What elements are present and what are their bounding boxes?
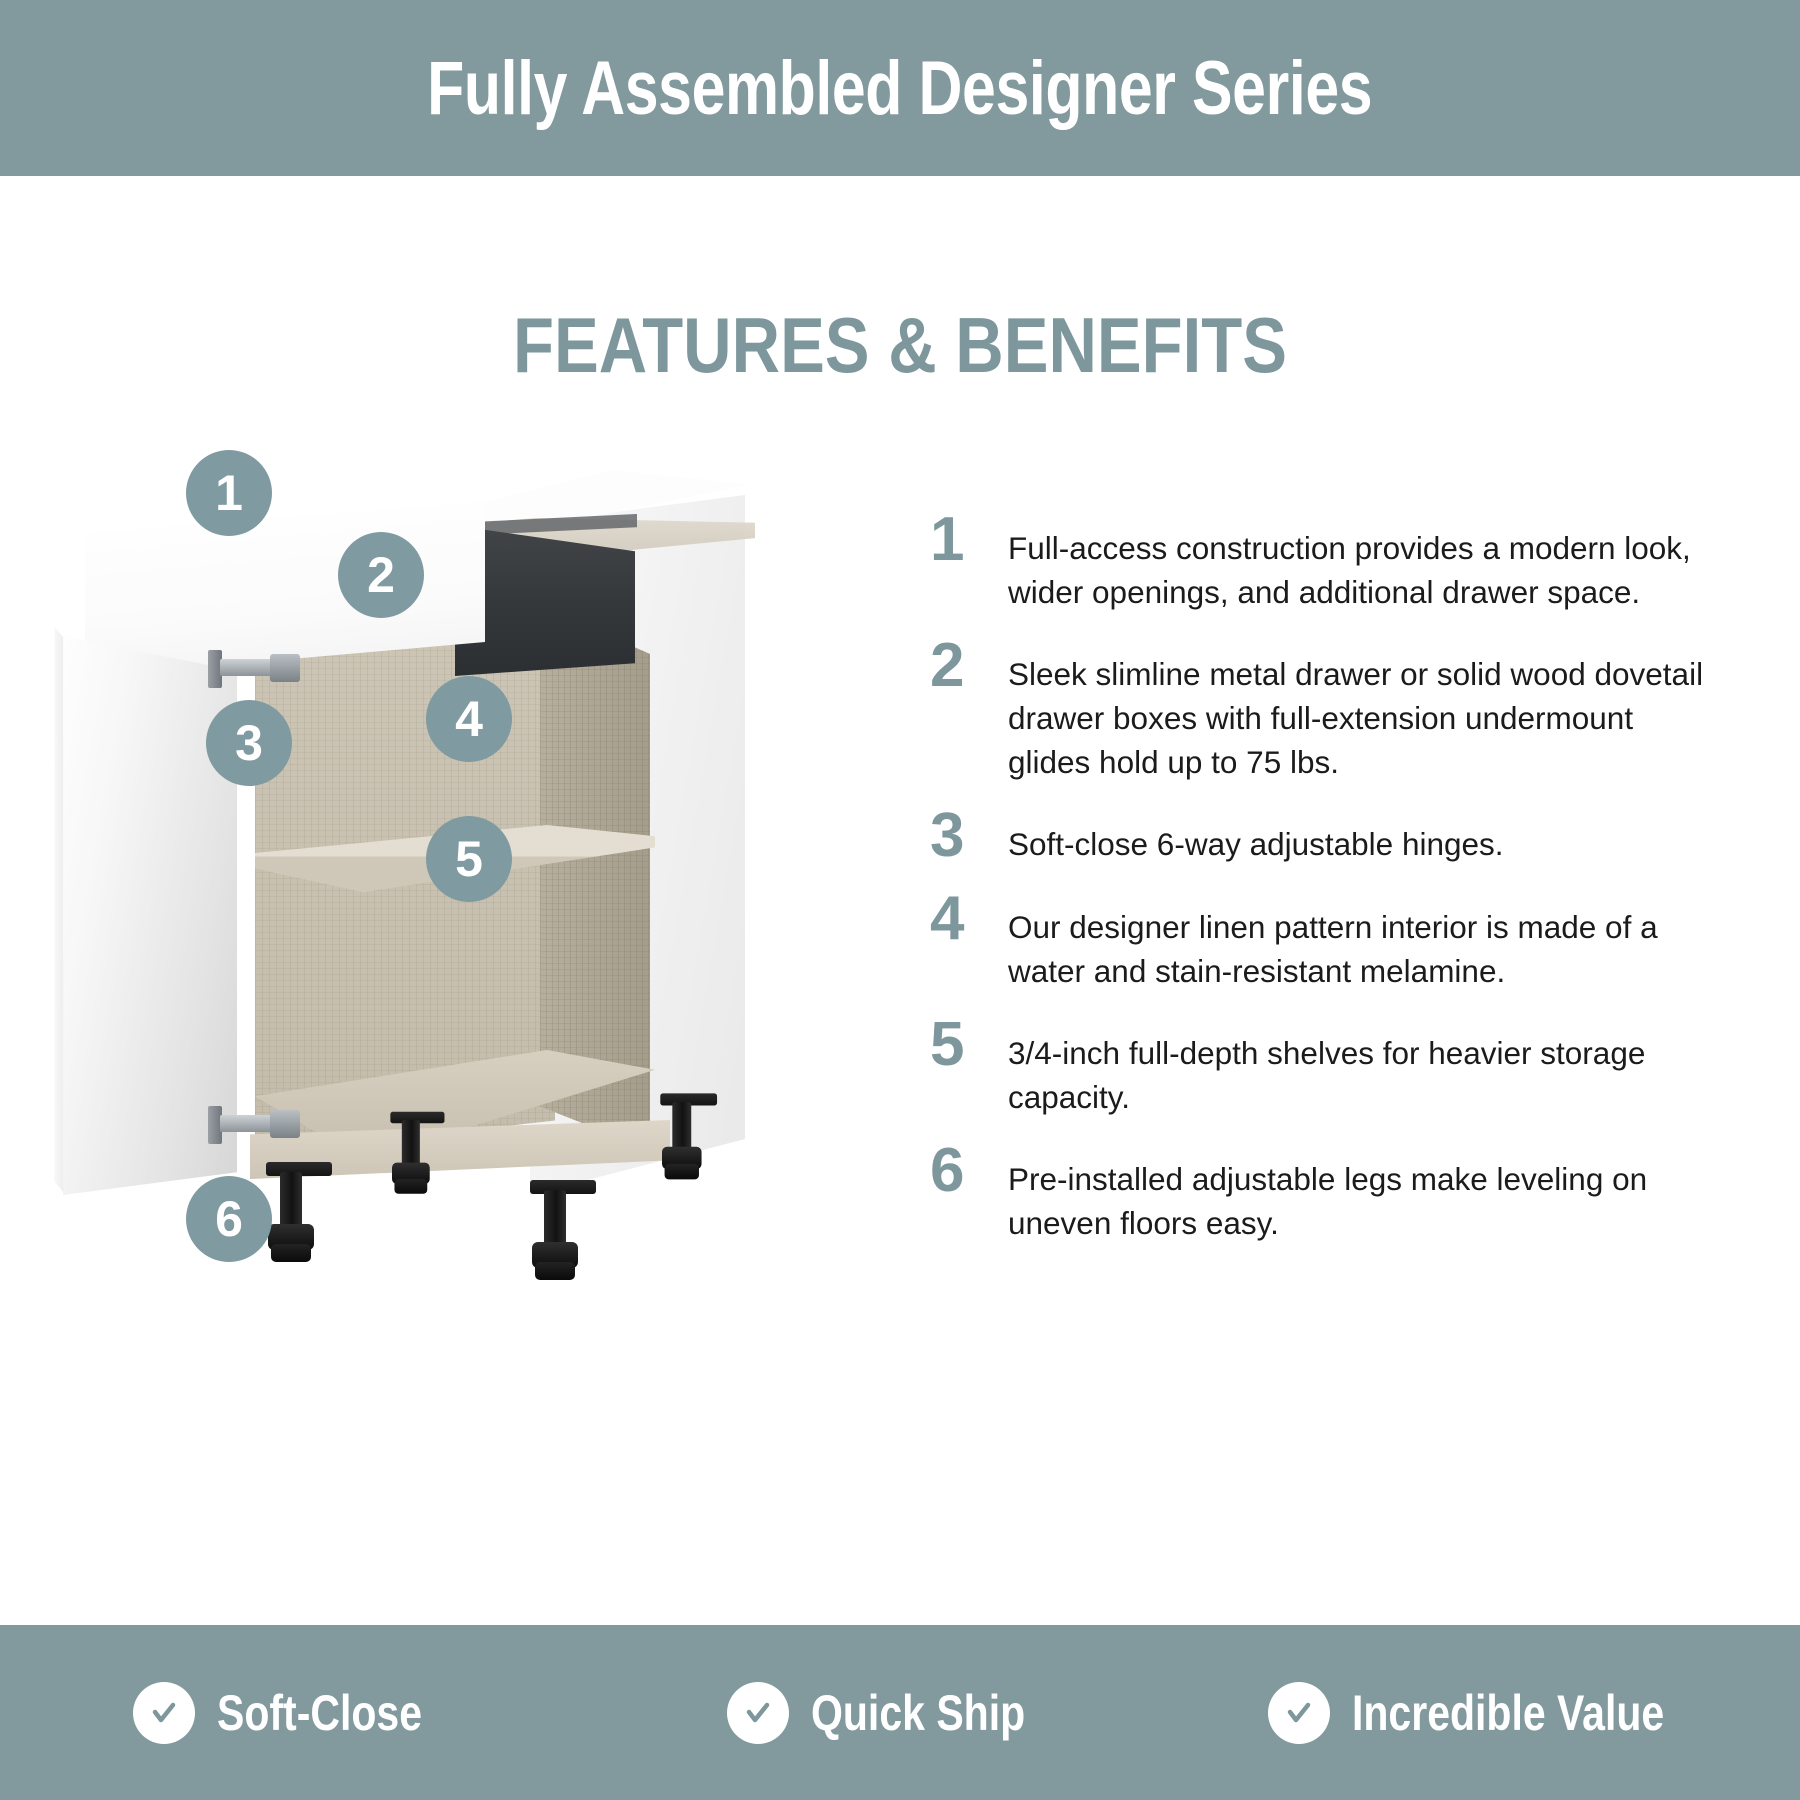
footer-item-incredible-value: Incredible Value	[1200, 1682, 1800, 1744]
feature-item-3: 3 Soft-close 6-way adjustable hinges.	[930, 806, 1720, 866]
callout-badge-1: 1	[186, 450, 272, 536]
feature-text-1: Full-access construction provides a mode…	[1008, 510, 1720, 614]
footer-label-soft-close: Soft-Close	[217, 1684, 422, 1742]
feature-item-5: 5 3/4-inch full-depth shelves for heavie…	[930, 1015, 1720, 1119]
section-title: FEATURES & BENEFITS	[126, 300, 1674, 391]
callout-badge-6: 6	[186, 1176, 272, 1262]
feature-number-6: 6	[930, 1141, 1008, 1201]
feature-number-5: 5	[930, 1015, 1008, 1075]
footer-item-soft-close: Soft-Close	[0, 1682, 600, 1744]
callout-badge-2: 2	[338, 532, 424, 618]
feature-text-2: Sleek slimline metal drawer or solid woo…	[1008, 636, 1720, 784]
soft-close-hinge-top	[208, 646, 303, 690]
check-circle-icon	[727, 1682, 789, 1744]
cabinet-door-edge	[48, 627, 64, 1193]
product-illustration: 1 2 3 4 5 6	[40, 430, 820, 1450]
check-circle-icon	[133, 1682, 195, 1744]
feature-item-6: 6 Pre-installed adjustable legs make lev…	[930, 1141, 1720, 1245]
callout-badge-5: 5	[426, 816, 512, 902]
feature-item-2: 2 Sleek slimline metal drawer or solid w…	[930, 636, 1720, 784]
feature-number-3: 3	[930, 806, 1008, 866]
footer-label-quick-ship: Quick Ship	[811, 1684, 1025, 1742]
header-title: Fully Assembled Designer Series	[427, 45, 1372, 132]
footer-label-incredible-value: Incredible Value	[1352, 1684, 1664, 1742]
feature-text-4: Our designer linen pattern interior is m…	[1008, 889, 1720, 993]
feature-item-4: 4 Our designer linen pattern interior is…	[930, 889, 1720, 993]
feature-number-2: 2	[930, 636, 1008, 696]
callout-badge-4: 4	[426, 676, 512, 762]
feature-number-1: 1	[930, 510, 1008, 570]
header-banner: Fully Assembled Designer Series	[0, 0, 1800, 176]
footer-banner: Soft-Close Quick Ship Incredible Value	[0, 1625, 1800, 1800]
soft-close-hinge-bottom	[208, 1102, 303, 1146]
feature-text-5: 3/4-inch full-depth shelves for heavier …	[1008, 1015, 1720, 1119]
feature-text-6: Pre-installed adjustable legs make level…	[1008, 1141, 1720, 1245]
feature-number-4: 4	[930, 889, 1008, 949]
check-circle-icon	[1268, 1682, 1330, 1744]
footer-item-quick-ship: Quick Ship	[600, 1682, 1200, 1744]
callout-badge-3: 3	[206, 700, 292, 786]
features-list: 1 Full-access construction provides a mo…	[930, 510, 1720, 1267]
feature-text-3: Soft-close 6-way adjustable hinges.	[1008, 806, 1720, 866]
feature-item-1: 1 Full-access construction provides a mo…	[930, 510, 1720, 614]
